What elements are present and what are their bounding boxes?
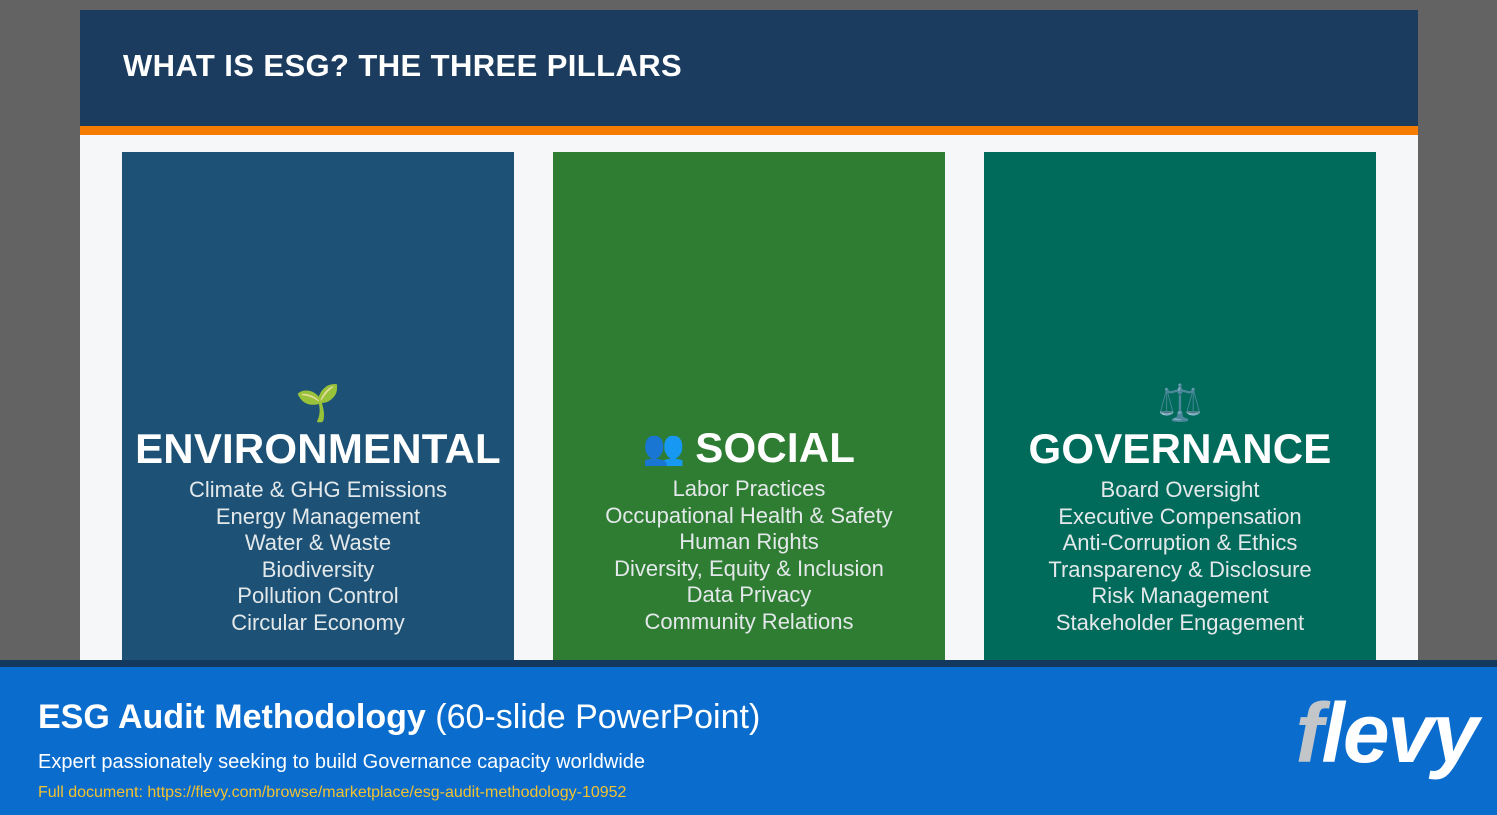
list-item: Risk Management xyxy=(1048,583,1311,610)
list-item: Energy Management xyxy=(189,504,447,531)
pillar-title-governance: GOVERNANCE xyxy=(1028,427,1331,471)
list-item: Diversity, Equity & Inclusion xyxy=(605,556,892,583)
balance-scale-icon: ⚖️ xyxy=(1158,383,1203,423)
pillar-title-environmental: ENVIRONMENTAL xyxy=(135,427,501,471)
screenshot-root: WHAT IS ESG? THE THREE PILLARS 🌱 ENVIRON… xyxy=(0,0,1497,815)
seedling-icon: 🌱 xyxy=(296,383,341,423)
list-item: Biodiversity xyxy=(189,557,447,584)
pillar-heading-row-governance: GOVERNANCE xyxy=(1028,427,1331,471)
pillar-card-governance[interactable]: ⚖️ GOVERNANCE Board Oversight Executive … xyxy=(984,152,1376,664)
list-item: Transparency & Disclosure xyxy=(1048,557,1311,584)
list-item: Data Privacy xyxy=(605,582,892,609)
list-item: Executive Compensation xyxy=(1048,504,1311,531)
pillar-heading-row-social: 👥 SOCIAL xyxy=(643,426,855,470)
pillar-topic-list-governance: Board Oversight Executive Compensation A… xyxy=(1048,477,1311,636)
flevy-logo-f: f xyxy=(1296,686,1322,780)
pillar-title-social: SOCIAL xyxy=(695,426,855,470)
list-item: Anti-Corruption & Ethics xyxy=(1048,530,1311,557)
list-item: Water & Waste xyxy=(189,530,447,557)
list-item: Board Oversight xyxy=(1048,477,1311,504)
busts-in-silhouette-icon: 👥 xyxy=(643,431,685,465)
list-item: Circular Economy xyxy=(189,610,447,637)
list-item: Pollution Control xyxy=(189,583,447,610)
flevy-logo[interactable]: flevy xyxy=(1296,691,1477,775)
pillar-heading-row-environmental: ENVIRONMENTAL xyxy=(135,427,501,471)
product-title: ESG Audit Methodology (60-slide PowerPoi… xyxy=(38,698,760,737)
document-url-link[interactable]: Full document: https://flevy.com/browse/… xyxy=(38,784,626,802)
list-item: Stakeholder Engagement xyxy=(1048,610,1311,637)
product-title-light: (60-slide PowerPoint) xyxy=(426,698,760,736)
list-item: Human Rights xyxy=(605,529,892,556)
list-item: Labor Practices xyxy=(605,476,892,503)
pillar-card-social[interactable]: 👥 SOCIAL Labor Practices Occupational He… xyxy=(553,152,945,664)
pillar-topic-list-social: Labor Practices Occupational Health & Sa… xyxy=(605,476,892,635)
list-item: Climate & GHG Emissions xyxy=(189,477,447,504)
promo-footer-banner: ESG Audit Methodology (60-slide PowerPoi… xyxy=(0,660,1497,815)
header-accent-rule xyxy=(80,126,1418,135)
pillar-card-group: 🌱 ENVIRONMENTAL Climate & GHG Emissions … xyxy=(122,152,1376,664)
pillar-card-environmental[interactable]: 🌱 ENVIRONMENTAL Climate & GHG Emissions … xyxy=(122,152,514,664)
list-item: Community Relations xyxy=(605,609,892,636)
list-item: Occupational Health & Safety xyxy=(605,503,892,530)
pillar-topic-list-environmental: Climate & GHG Emissions Energy Managemen… xyxy=(189,477,447,636)
flevy-logo-levy: levy xyxy=(1322,686,1478,780)
page-title: WHAT IS ESG? THE THREE PILLARS xyxy=(123,48,682,84)
slide-header-band: WHAT IS ESG? THE THREE PILLARS xyxy=(80,10,1418,126)
product-tagline: Expert passionately seeking to build Gov… xyxy=(38,751,645,774)
product-title-strong: ESG Audit Methodology xyxy=(38,698,426,736)
